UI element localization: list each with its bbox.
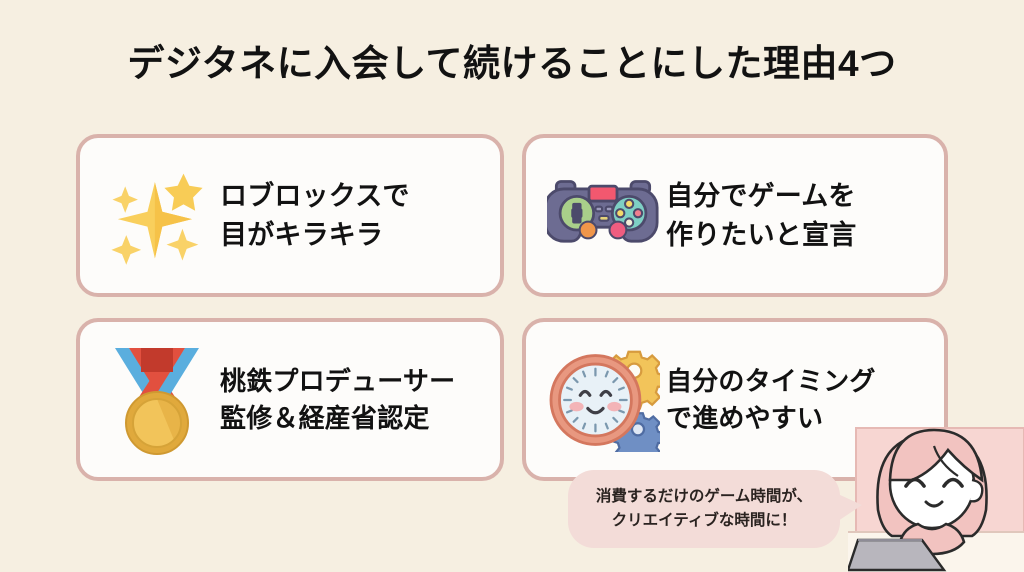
reason-card-1[interactable]: ロブロックスで 目がキラキラ [76,134,504,297]
speech-bubble-tail [838,494,862,521]
page-title: デジタネに入会して続けることにした理由4つ [0,44,1024,85]
reason-card-2-line2: 作りたいと宣言 [666,216,856,254]
reason-card-3-text: 桃鉄プロデューサー 監修＆経産省認定 [220,363,455,437]
reason-card-4-line2: で進めやすい [666,400,876,437]
reason-card-1-line2: 目がキラキラ [220,216,410,254]
reason-card-4-text: 自分のタイミング で進めやすい [666,363,876,437]
girl-at-laptop-illustration [848,414,1024,572]
reason-card-3-line1: 桃鉄プロデューサー [220,363,455,400]
clock-gears-icon [544,341,662,459]
speech-bubble-line2: クリエイティブな時間に！ [596,509,812,533]
speech-bubble-line1: 消費するだけのゲーム時間が、 [596,485,812,509]
reason-card-2-line1: 自分でゲームを [666,177,856,215]
reason-card-1-line1: ロブロックスで [220,177,410,215]
reason-card-4-line1: 自分のタイミング [666,363,876,400]
reason-card-1-text: ロブロックスで 目がキラキラ [220,177,410,254]
reason-card-3[interactable]: 桃鉄プロデューサー 監修＆経産省認定 [76,318,504,481]
reason-card-3-line2: 監修＆経産省認定 [220,400,455,437]
slide-canvas: デジタネに入会して続けることにした理由4つ ロブロックスで 目がキラキラ [0,0,1024,572]
sparkles-icon [98,157,216,275]
reason-card-2[interactable]: 自分でゲームを 作りたいと宣言 [522,134,948,297]
medal-icon [98,341,216,459]
reason-card-2-text: 自分でゲームを 作りたいと宣言 [666,177,856,254]
game-controller-icon [544,157,662,275]
speech-bubble-text: 消費するだけのゲーム時間が、 クリエイティブな時間に！ [596,485,812,533]
speech-bubble: 消費するだけのゲーム時間が、 クリエイティブな時間に！ [568,470,840,548]
